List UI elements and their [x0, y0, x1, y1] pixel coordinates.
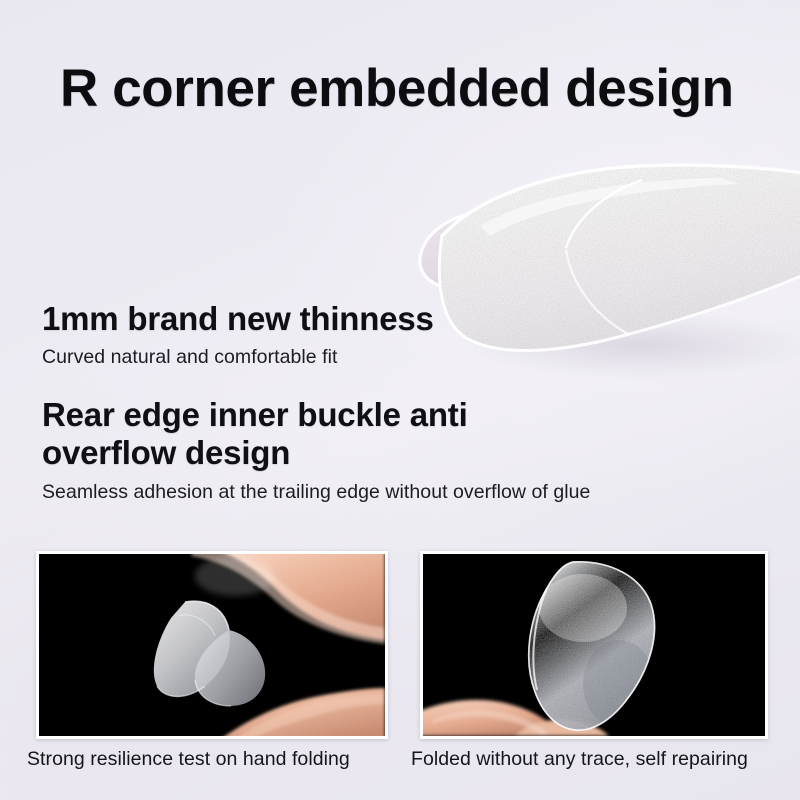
product-feature-page: R corner embedded design	[0, 0, 800, 800]
photo-panel-hand-folding	[36, 551, 388, 739]
feature-heading-line2: overflow design	[42, 434, 590, 472]
fingers-folding-film-photo	[39, 554, 385, 736]
frosted-nail-tip-photo	[423, 554, 765, 736]
feature-subtitle-anti-overflow: Seamless adhesion at the trailing edge w…	[42, 480, 590, 504]
panel-caption-self-repairing: Folded without any trace, self repairing	[411, 748, 748, 771]
photo-panel-self-repairing	[420, 551, 768, 739]
feature-heading-thinness: 1mm brand new thinness	[42, 300, 434, 338]
feature-block-anti-overflow: Rear edge inner buckle anti overflow des…	[42, 396, 590, 504]
feature-heading-line1: Rear edge inner buckle anti	[42, 396, 590, 434]
page-title: R corner embedded design	[60, 58, 734, 119]
feature-subtitle-thinness: Curved natural and comfortable fit	[42, 345, 434, 369]
feature-block-thinness: 1mm brand new thinness Curved natural an…	[42, 300, 434, 370]
panel-caption-hand-folding: Strong resilience test on hand folding	[27, 748, 350, 771]
hero-product-image	[390, 140, 800, 390]
feature-heading-anti-overflow: Rear edge inner buckle anti overflow des…	[42, 396, 590, 473]
curled-film-illustration	[390, 140, 800, 390]
